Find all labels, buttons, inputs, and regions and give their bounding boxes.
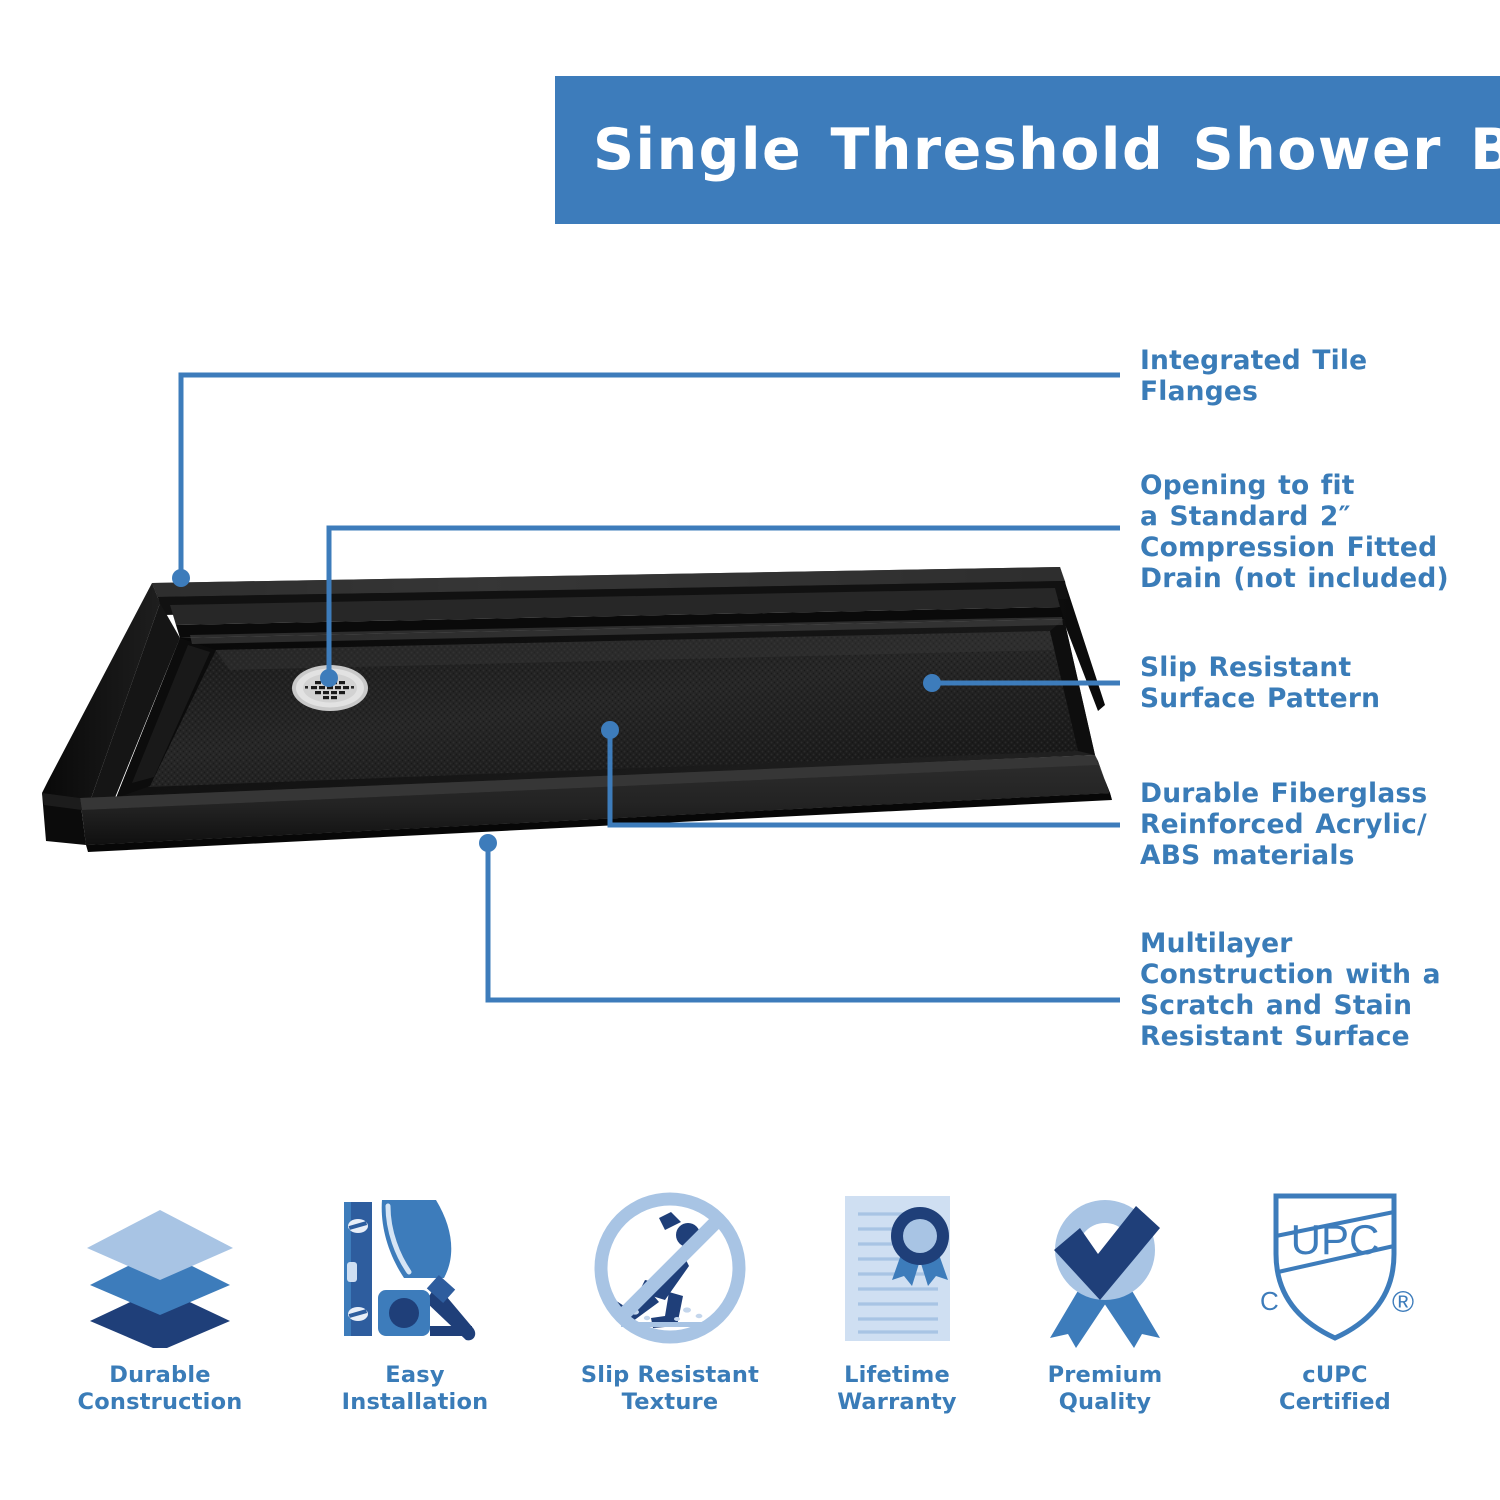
- callout-text-integrated-tile-flanges: Integrated Tile Flanges: [1140, 345, 1367, 407]
- layers-icon: [75, 1185, 245, 1350]
- check-ribbon-icon: [1020, 1185, 1190, 1350]
- callout-dot-drain-opening: [320, 669, 338, 687]
- callout-text-durable-fiberglass: Durable Fiberglass Reinforced Acrylic/ A…: [1140, 778, 1427, 871]
- leader-line-drain-opening: [329, 528, 1120, 678]
- feature-premium-quality: Premium Quality: [1000, 1185, 1210, 1465]
- feature-cupc-certified: UPC C ® cUPC Certified: [1230, 1185, 1440, 1465]
- callout-dot-durable-fiberglass: [601, 721, 619, 739]
- infographic-canvas: Single Threshold Shower Base: [0, 0, 1500, 1500]
- leader-line-multilayer: [488, 843, 1120, 1000]
- feature-durable-construction: Durable Construction: [55, 1185, 265, 1465]
- level-trowel-icon: [330, 1185, 500, 1350]
- feature-label-lifetime-warranty: Lifetime Warranty: [837, 1362, 957, 1416]
- callout-dot-slip-resistant: [923, 674, 941, 692]
- callout-dot-integrated-tile-flanges: [172, 569, 190, 587]
- callout-text-slip-resistant: Slip Resistant Surface Pattern: [1140, 652, 1380, 714]
- feature-label-premium-quality: Premium Quality: [1048, 1362, 1163, 1416]
- feature-badge-row: Durable Construction: [0, 1185, 1500, 1465]
- feature-easy-installation: Easy Installation: [310, 1185, 520, 1465]
- leader-line-integrated-tile-flanges: [181, 375, 1120, 578]
- upc-prefix-letter: C: [1260, 1286, 1279, 1316]
- upc-shield-icon: UPC C ®: [1250, 1185, 1420, 1350]
- feature-slip-resistant-texture: Slip Resistant Texture: [565, 1185, 775, 1465]
- feature-label-durable-construction: Durable Construction: [78, 1362, 243, 1416]
- feature-label-cupc-certified: cUPC Certified: [1279, 1362, 1391, 1416]
- feature-label-easy-installation: Easy Installation: [342, 1362, 489, 1416]
- feature-lifetime-warranty: Lifetime Warranty: [792, 1185, 1002, 1465]
- callout-text-multilayer: Multilayer Construction with a Scratch a…: [1140, 928, 1441, 1052]
- feature-label-slip-resistant-texture: Slip Resistant Texture: [581, 1362, 759, 1416]
- registered-mark: ®: [1392, 1286, 1414, 1319]
- callout-text-drain-opening: Opening to fit a Standard 2″ Compression…: [1140, 470, 1449, 594]
- no-slip-icon: [585, 1185, 755, 1350]
- certificate-icon: [812, 1185, 982, 1350]
- upc-shield-text: UPC: [1291, 1216, 1380, 1263]
- leader-line-durable-fiberglass: [610, 730, 1120, 825]
- callout-dot-multilayer: [479, 834, 497, 852]
